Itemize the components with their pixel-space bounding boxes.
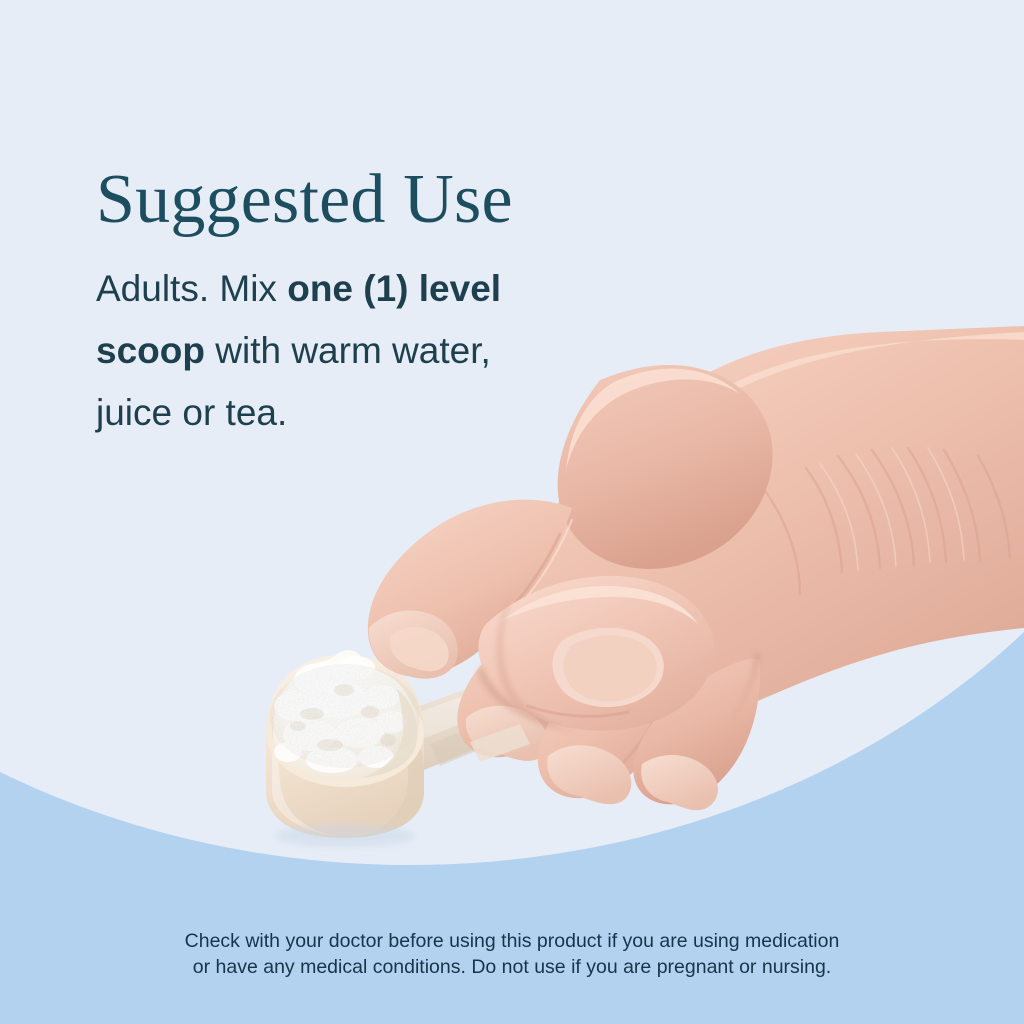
disclaimer-line-1: Check with your doctor before using this… — [0, 928, 1024, 954]
instruction-text: Adults. Mix one (1) level scoop with war… — [96, 258, 566, 444]
page-title: Suggested Use — [96, 160, 616, 240]
copy-block: Suggested Use Adults. Mix one (1) level … — [96, 160, 616, 444]
product-instruction-card: Suggested Use Adults. Mix one (1) level … — [0, 0, 1024, 1024]
disclaimer-text: Check with your doctor before using this… — [0, 928, 1024, 980]
disclaimer-line-2: or have any medical conditions. Do not u… — [0, 954, 1024, 980]
instruction-lead: Adults. Mix — [96, 268, 287, 309]
